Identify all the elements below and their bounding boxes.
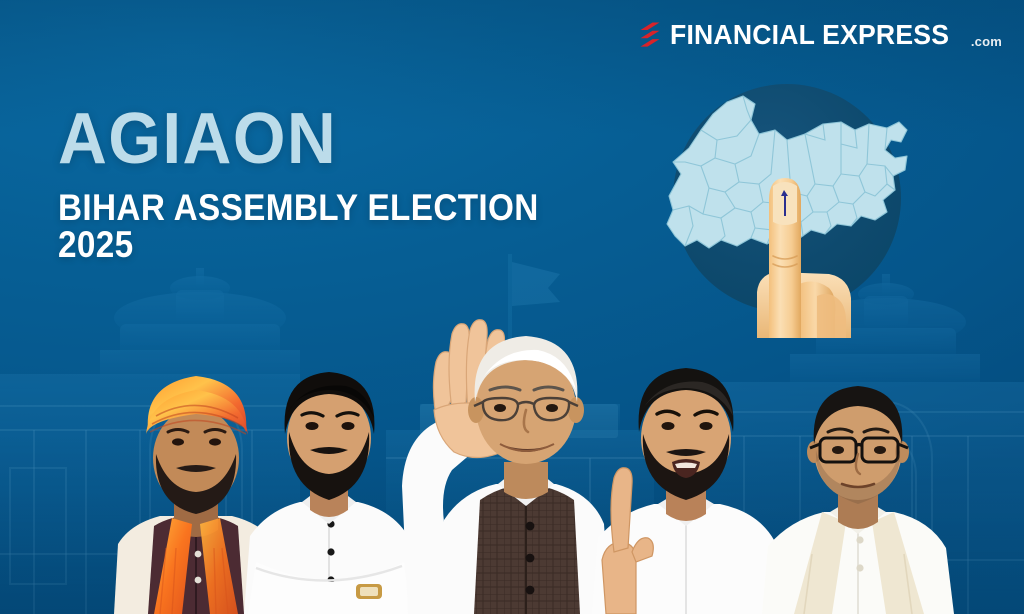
politician-lineup [0,284,1024,614]
financial-express-flame-icon [639,22,661,48]
logo-tld: .com [971,34,1002,49]
headline-block: AGIAON BIHAR ASSEMBLY ELECTION 2025 [58,104,678,263]
election-banner: ASSEMBLY [0,0,1024,614]
financial-express-logo[interactable]: FINANCIAL EXPRESS .com [639,19,1002,51]
election-subtitle: BIHAR ASSEMBLY ELECTION 2025 [58,189,616,263]
logo-wordmark: FINANCIAL EXPRESS [670,19,949,51]
constituency-title: AGIAON [58,104,641,175]
politician-with-glasses-cream-shawl [752,364,968,614]
